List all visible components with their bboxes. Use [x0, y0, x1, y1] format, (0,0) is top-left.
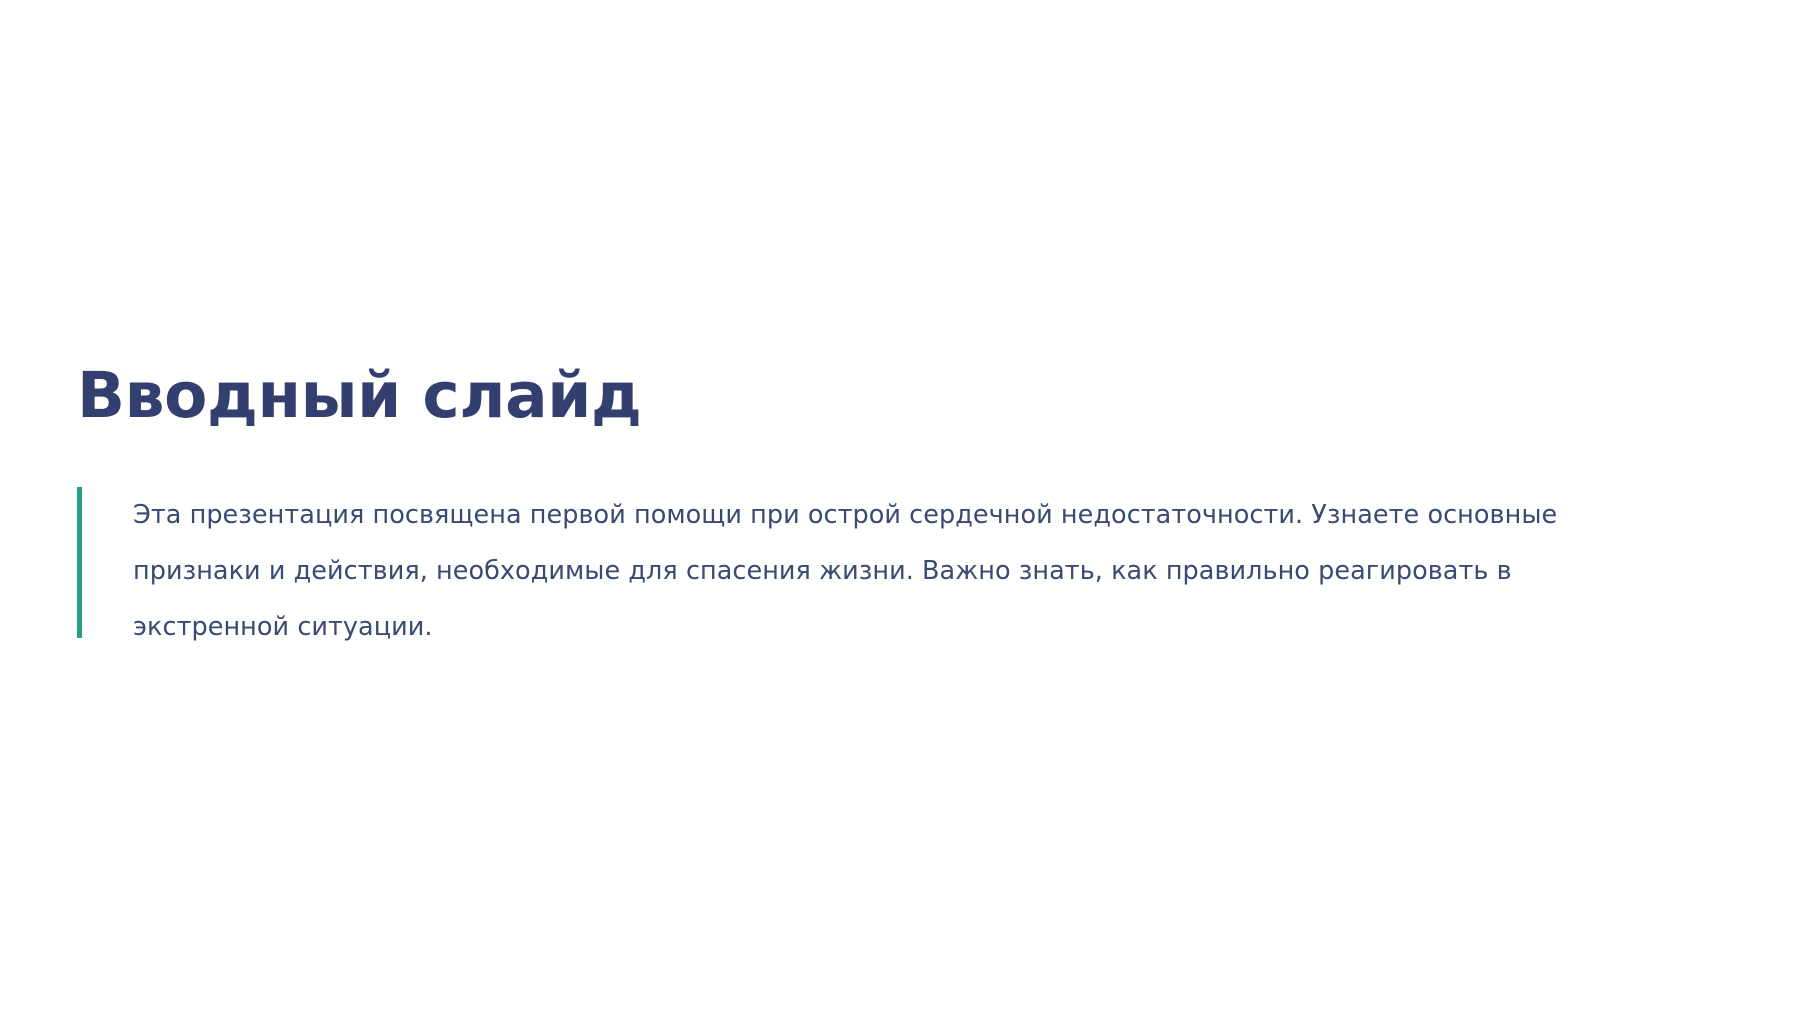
body-block: Эта презентация посвящена первой помощи … — [77, 487, 1677, 655]
accent-bar — [77, 487, 82, 638]
body-paragraph: Эта презентация посвящена первой помощи … — [133, 487, 1667, 655]
slide-canvas: Вводный слайд Эта презентация посвящена … — [0, 0, 1800, 1013]
slide-content: Вводный слайд Эта презентация посвящена … — [77, 362, 1677, 655]
page-title: Вводный слайд — [77, 362, 1677, 430]
